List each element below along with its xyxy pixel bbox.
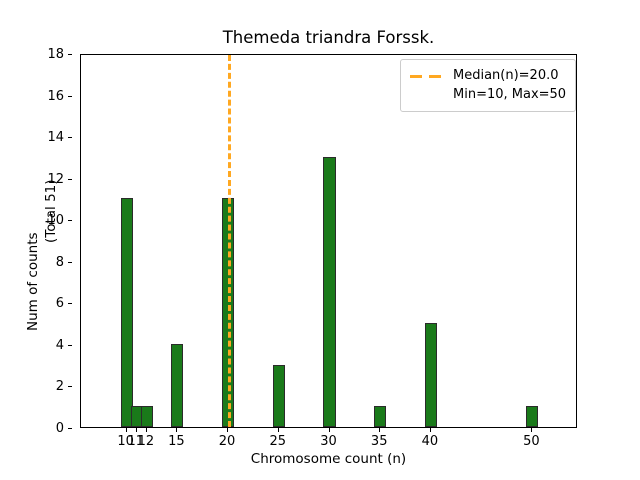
x-axis-label: Chromosome count (n) xyxy=(80,452,577,467)
x-tick-mark xyxy=(329,428,330,432)
y-tick-mark xyxy=(68,262,72,263)
y-tick-label: 18 xyxy=(47,48,64,61)
y-tick-label: 2 xyxy=(56,380,64,393)
y-tick-label: 0 xyxy=(56,422,64,435)
y-tick-label: 8 xyxy=(56,256,64,269)
y-tick-mark xyxy=(68,54,72,55)
y-tick-label: 14 xyxy=(47,131,64,144)
y-tick-mark xyxy=(68,386,72,387)
x-tick-mark xyxy=(126,428,127,432)
y-tick-label: 16 xyxy=(47,90,64,103)
x-tick-label: 12 xyxy=(138,435,155,448)
x-tick-label: 25 xyxy=(270,435,287,448)
legend-entry: Min=10, Max=50 xyxy=(410,85,566,104)
x-tick-label: 40 xyxy=(422,435,439,448)
legend-label: Min=10, Max=50 xyxy=(453,87,566,102)
chart-legend: Median(n)=20.0Min=10, Max=50 xyxy=(400,59,576,112)
y-tick-mark xyxy=(68,428,72,429)
y-tick-mark xyxy=(68,345,72,346)
y-tick-label: 10 xyxy=(47,214,64,227)
y-tick-label: 4 xyxy=(56,339,64,352)
median-line xyxy=(228,55,231,427)
y-tick-mark xyxy=(68,220,72,221)
chart-title: Themeda triandra Forssk. xyxy=(80,28,577,47)
x-tick-mark xyxy=(430,428,431,432)
chart-figure: Themeda triandra Forssk. 024681012141618… xyxy=(0,0,640,480)
x-tick-mark xyxy=(176,428,177,432)
x-tick-mark xyxy=(146,428,147,432)
y-tick-label: 6 xyxy=(56,297,64,310)
x-tick-mark xyxy=(278,428,279,432)
x-tick-label: 30 xyxy=(320,435,337,448)
legend-entry: Median(n)=20.0 xyxy=(410,66,566,85)
y-axis-ticks: 024681012141618 xyxy=(0,54,72,428)
legend-label: Median(n)=20.0 xyxy=(453,68,559,83)
y-tick-mark xyxy=(68,137,72,138)
x-tick-mark xyxy=(136,428,137,432)
x-tick-label: 50 xyxy=(523,435,540,448)
legend-dashed-line-icon xyxy=(410,69,444,83)
x-tick-label: 35 xyxy=(371,435,388,448)
y-tick-mark xyxy=(68,179,72,180)
x-tick-mark xyxy=(531,428,532,432)
y-tick-label: 12 xyxy=(47,173,64,186)
x-tick-mark xyxy=(227,428,228,432)
y-tick-mark xyxy=(68,96,72,97)
x-tick-label: 20 xyxy=(219,435,236,448)
x-tick-label: 15 xyxy=(168,435,185,448)
y-tick-mark xyxy=(68,303,72,304)
x-tick-mark xyxy=(379,428,380,432)
